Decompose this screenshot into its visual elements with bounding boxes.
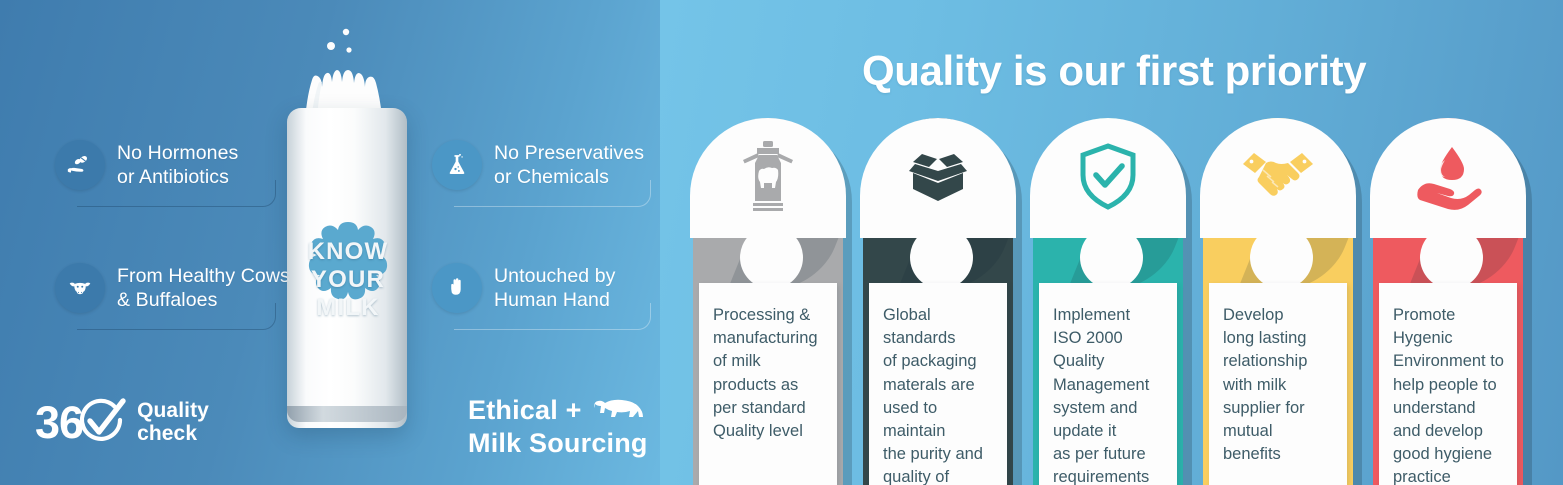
card-text: Develop long lasting relationship with m… bbox=[1209, 283, 1347, 466]
bottle-label-line3: MILK bbox=[296, 294, 400, 322]
bottle-base bbox=[287, 406, 407, 422]
card-knob bbox=[740, 226, 803, 289]
feature-badge-no-hormones[interactable]: No Hormones or Antibiotics bbox=[55, 140, 238, 190]
open-box-icon bbox=[903, 146, 973, 208]
quality-card-iso-2000[interactable]: Implement ISO 2000 Quality Management sy… bbox=[1033, 118, 1183, 485]
card-icon-head bbox=[690, 118, 846, 238]
quality-card-relationship[interactable]: Develop long lasting relationship with m… bbox=[1203, 118, 1353, 485]
card-panel: Promote Hygenic Environment to help peop… bbox=[1379, 283, 1517, 485]
feature-badge-healthy-cows[interactable]: From Healthy Cows & Buffaloes bbox=[55, 263, 290, 313]
card-text: Implement ISO 2000 Quality Management sy… bbox=[1039, 283, 1177, 485]
hand-waterdrop-icon bbox=[1412, 144, 1484, 210]
card-icon-head bbox=[1200, 118, 1356, 238]
quality-card-packaging[interactable]: Global standards of packaging materals a… bbox=[863, 118, 1013, 485]
ethical-milk-sourcing: Ethical + Milk Sourcing bbox=[468, 394, 649, 460]
quality-check-number: 36 bbox=[35, 400, 83, 445]
bottle-label-line2: YOUR bbox=[296, 266, 400, 294]
bottle-label-line1: KNOW bbox=[296, 238, 400, 266]
handshake-icon bbox=[1240, 148, 1316, 206]
card-icon-head bbox=[1030, 118, 1186, 238]
page-title: Quality is our first priority bbox=[862, 47, 1366, 95]
badge-tail bbox=[454, 303, 651, 330]
milk-bottle: KNOW YOUR MILK bbox=[282, 22, 412, 422]
feature-badge-untouched[interactable]: Untouched by Human Hand bbox=[432, 263, 616, 313]
check-circle-icon bbox=[77, 398, 129, 448]
quality-card-hygiene[interactable]: Promote Hygenic Environment to help peop… bbox=[1373, 118, 1523, 485]
card-panel: Global standards of packaging materals a… bbox=[869, 283, 1007, 485]
card-panel: Processing & manufacturing of milk produ… bbox=[699, 283, 837, 485]
card-text: Processing & manufacturing of milk produ… bbox=[699, 283, 837, 443]
card-knob bbox=[910, 226, 973, 289]
ethical-line2: Milk Sourcing bbox=[468, 427, 649, 460]
quality-check-label: Quality check bbox=[137, 399, 209, 445]
quality-check-stat: 36 Quality check bbox=[35, 396, 209, 448]
card-icon-head bbox=[1370, 118, 1526, 238]
milk-can-cow-icon bbox=[735, 138, 801, 216]
cow-head-icon bbox=[55, 263, 105, 313]
ethical-line1: Ethical + bbox=[468, 394, 582, 427]
card-knob bbox=[1420, 226, 1483, 289]
badge-tail bbox=[77, 180, 276, 207]
card-knob bbox=[1080, 226, 1143, 289]
card-icon-head bbox=[860, 118, 1016, 238]
open-hand-icon bbox=[432, 263, 482, 313]
badge-tail bbox=[454, 180, 651, 207]
card-panel: Develop long lasting relationship with m… bbox=[1209, 283, 1347, 485]
card-text: Promote Hygenic Environment to help peop… bbox=[1379, 283, 1517, 485]
card-text: Global standards of packaging materals a… bbox=[869, 283, 1007, 485]
badge-tail bbox=[77, 303, 276, 330]
bottle-label-text: KNOW YOUR MILK bbox=[296, 238, 400, 322]
flask-icon bbox=[432, 140, 482, 190]
infographic-canvas: No Hormones or Antibiotics From Healthy … bbox=[0, 0, 1563, 485]
card-knob bbox=[1250, 226, 1313, 289]
hand-pills-icon bbox=[55, 140, 105, 190]
shield-check-icon bbox=[1077, 141, 1139, 213]
feature-badge-no-preservatives[interactable]: No Preservatives or Chemicals bbox=[432, 140, 644, 190]
cow-icon bbox=[591, 392, 649, 426]
quality-card-processing[interactable]: Processing & manufacturing of milk produ… bbox=[693, 118, 843, 485]
card-panel: Implement ISO 2000 Quality Management sy… bbox=[1039, 283, 1177, 485]
